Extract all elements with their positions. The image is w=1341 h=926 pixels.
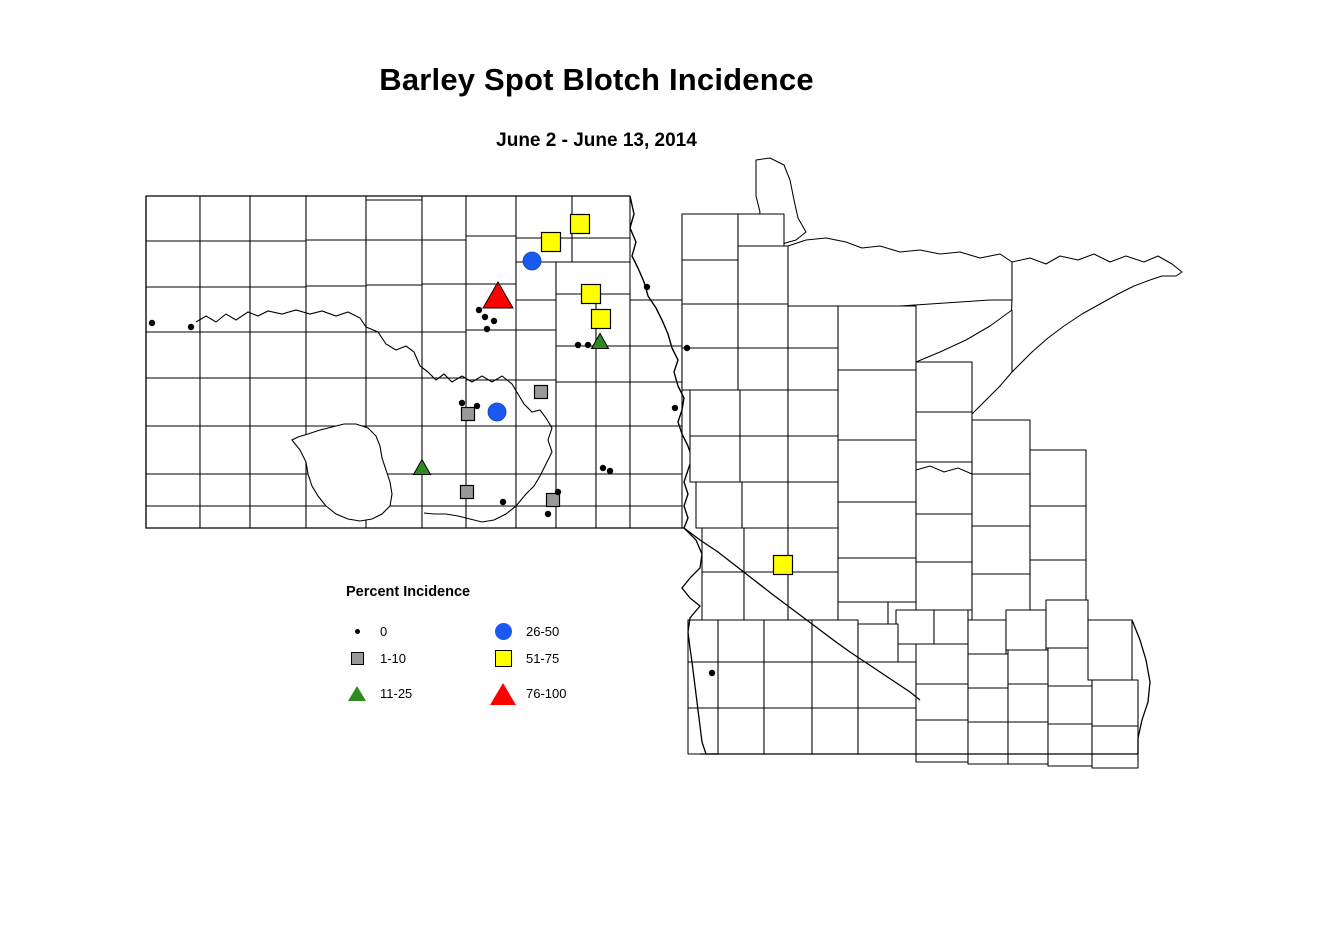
- map-marker: [523, 252, 541, 270]
- map-marker: [461, 486, 474, 499]
- legend-swatch-red-triangle-icon: [490, 683, 516, 705]
- map-marker: [600, 465, 606, 471]
- map-marker: [592, 310, 611, 329]
- map-marker: [684, 345, 690, 351]
- legend-item-26-50: 26-50: [490, 618, 566, 645]
- map-marker: [535, 386, 548, 399]
- legend-label-0: 0: [380, 624, 387, 639]
- map-marker: [585, 342, 591, 348]
- map-marker: [774, 556, 793, 575]
- legend-label-26-50: 26-50: [526, 624, 559, 639]
- map-marker: [575, 342, 581, 348]
- map-marker: [542, 233, 561, 252]
- legend-swatch-blue-circle-icon: [490, 623, 516, 640]
- map-marker: [188, 324, 194, 330]
- map-marker: [500, 499, 506, 505]
- map-canvas: [0, 0, 1341, 926]
- map-marker: [484, 326, 490, 332]
- map-marker: [644, 284, 650, 290]
- legend-item-76-100: 76-100: [490, 680, 566, 707]
- map-marker: [607, 468, 613, 474]
- map-marker: [571, 215, 590, 234]
- legend-label-1-10: 1-10: [380, 651, 406, 666]
- legend-item-1-10: 1-10: [344, 645, 412, 672]
- map-marker: [476, 307, 482, 313]
- map-marker: [482, 314, 488, 320]
- map-marker: [545, 511, 551, 517]
- map-marker: [474, 403, 480, 409]
- minnesota-counties: [682, 158, 1182, 768]
- legend-item-0: 0: [344, 618, 412, 645]
- legend-swatch-gray-square-icon: [344, 652, 370, 665]
- legend-column-right: 26-50 51-75 76-100: [490, 618, 566, 707]
- map-marker: [555, 489, 561, 495]
- legend-column-left: 0 1-10 11-25: [344, 618, 412, 707]
- map-marker: [149, 320, 155, 326]
- map-marker: [488, 403, 506, 421]
- map-marker: [491, 318, 497, 324]
- legend-label-76-100: 76-100: [526, 686, 566, 701]
- north-dakota-counties: [146, 196, 682, 528]
- map-figure: Barley Spot Blotch Incidence June 2 - Ju…: [0, 0, 1341, 926]
- map-marker: [459, 400, 465, 406]
- map-marker: [547, 494, 560, 507]
- legend: Percent Incidence 0 1-10: [344, 584, 584, 708]
- map-marker: [582, 285, 601, 304]
- legend-swatch-green-triangle-icon: [344, 686, 370, 701]
- legend-item-11-25: 11-25: [344, 680, 412, 707]
- legend-title: Percent Incidence: [346, 584, 584, 600]
- map-marker: [462, 408, 475, 421]
- legend-swatch-dot-icon: [344, 629, 370, 634]
- legend-item-51-75: 51-75: [490, 645, 566, 672]
- map-marker: [672, 405, 678, 411]
- map-marker: [709, 670, 715, 676]
- legend-label-11-25: 11-25: [380, 686, 412, 701]
- legend-label-51-75: 51-75: [526, 651, 559, 666]
- legend-swatch-yellow-square-icon: [490, 650, 516, 667]
